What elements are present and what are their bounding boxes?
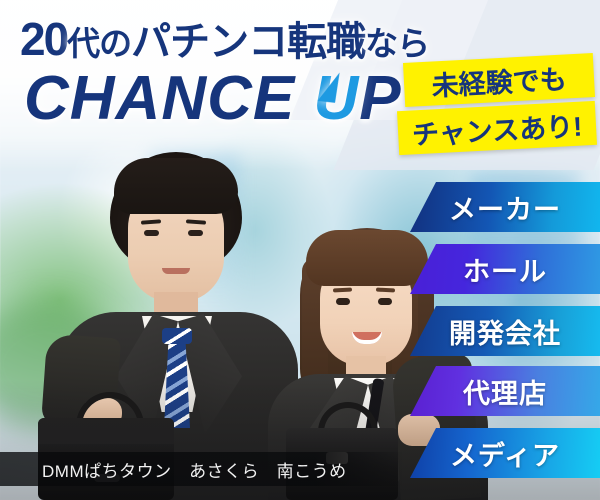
woman-eye-right xyxy=(378,298,392,305)
man-eye-right xyxy=(188,230,203,236)
man-eye-left xyxy=(144,230,159,236)
briefcase-left-flap xyxy=(38,418,174,444)
category-label-3: 代理店 xyxy=(463,372,547,411)
logo-letter-p: P xyxy=(359,64,401,133)
ribbon-2-label: チャンスあり! xyxy=(411,104,583,152)
advertisement-banner[interactable]: 20代のパチンコ転職なら CHANCE UP 未経験でも チャンスあり! メーカ… xyxy=(0,0,600,500)
category-button-developer[interactable]: 開発会社 xyxy=(410,306,600,356)
man-mouth xyxy=(162,268,190,274)
logo-chance-up: CHANCE UP xyxy=(24,68,402,130)
category-button-hall[interactable]: ホール xyxy=(410,244,600,294)
headline: 20代のパチンコ転職なら xyxy=(20,16,429,62)
man-tie-knot xyxy=(162,328,192,344)
headline-number: 20 xyxy=(20,13,67,65)
man-fringe xyxy=(114,158,238,214)
headline-tail: なら xyxy=(365,25,429,62)
category-button-maker[interactable]: メーカー xyxy=(410,182,600,232)
category-label-1: ホール xyxy=(463,250,547,289)
ribbon-1-label: 未経験でも xyxy=(431,57,568,103)
logo-word-chance: CHANCE xyxy=(24,64,295,133)
woman-eye-left xyxy=(336,298,350,305)
woman-fringe xyxy=(306,230,428,286)
category-button-agency[interactable]: 代理店 xyxy=(410,366,600,416)
category-label-2: 開発会社 xyxy=(449,312,561,351)
category-label-4: メディア xyxy=(450,434,560,473)
caption-text: DMMぱちタウン あさくら 南こうめ xyxy=(42,452,347,486)
category-label-0: メーカー xyxy=(449,188,561,227)
headline-keyword: パチンコ転職 xyxy=(131,20,365,64)
category-button-media[interactable]: メディア xyxy=(410,428,600,478)
headline-suffix: 代の xyxy=(67,25,131,62)
